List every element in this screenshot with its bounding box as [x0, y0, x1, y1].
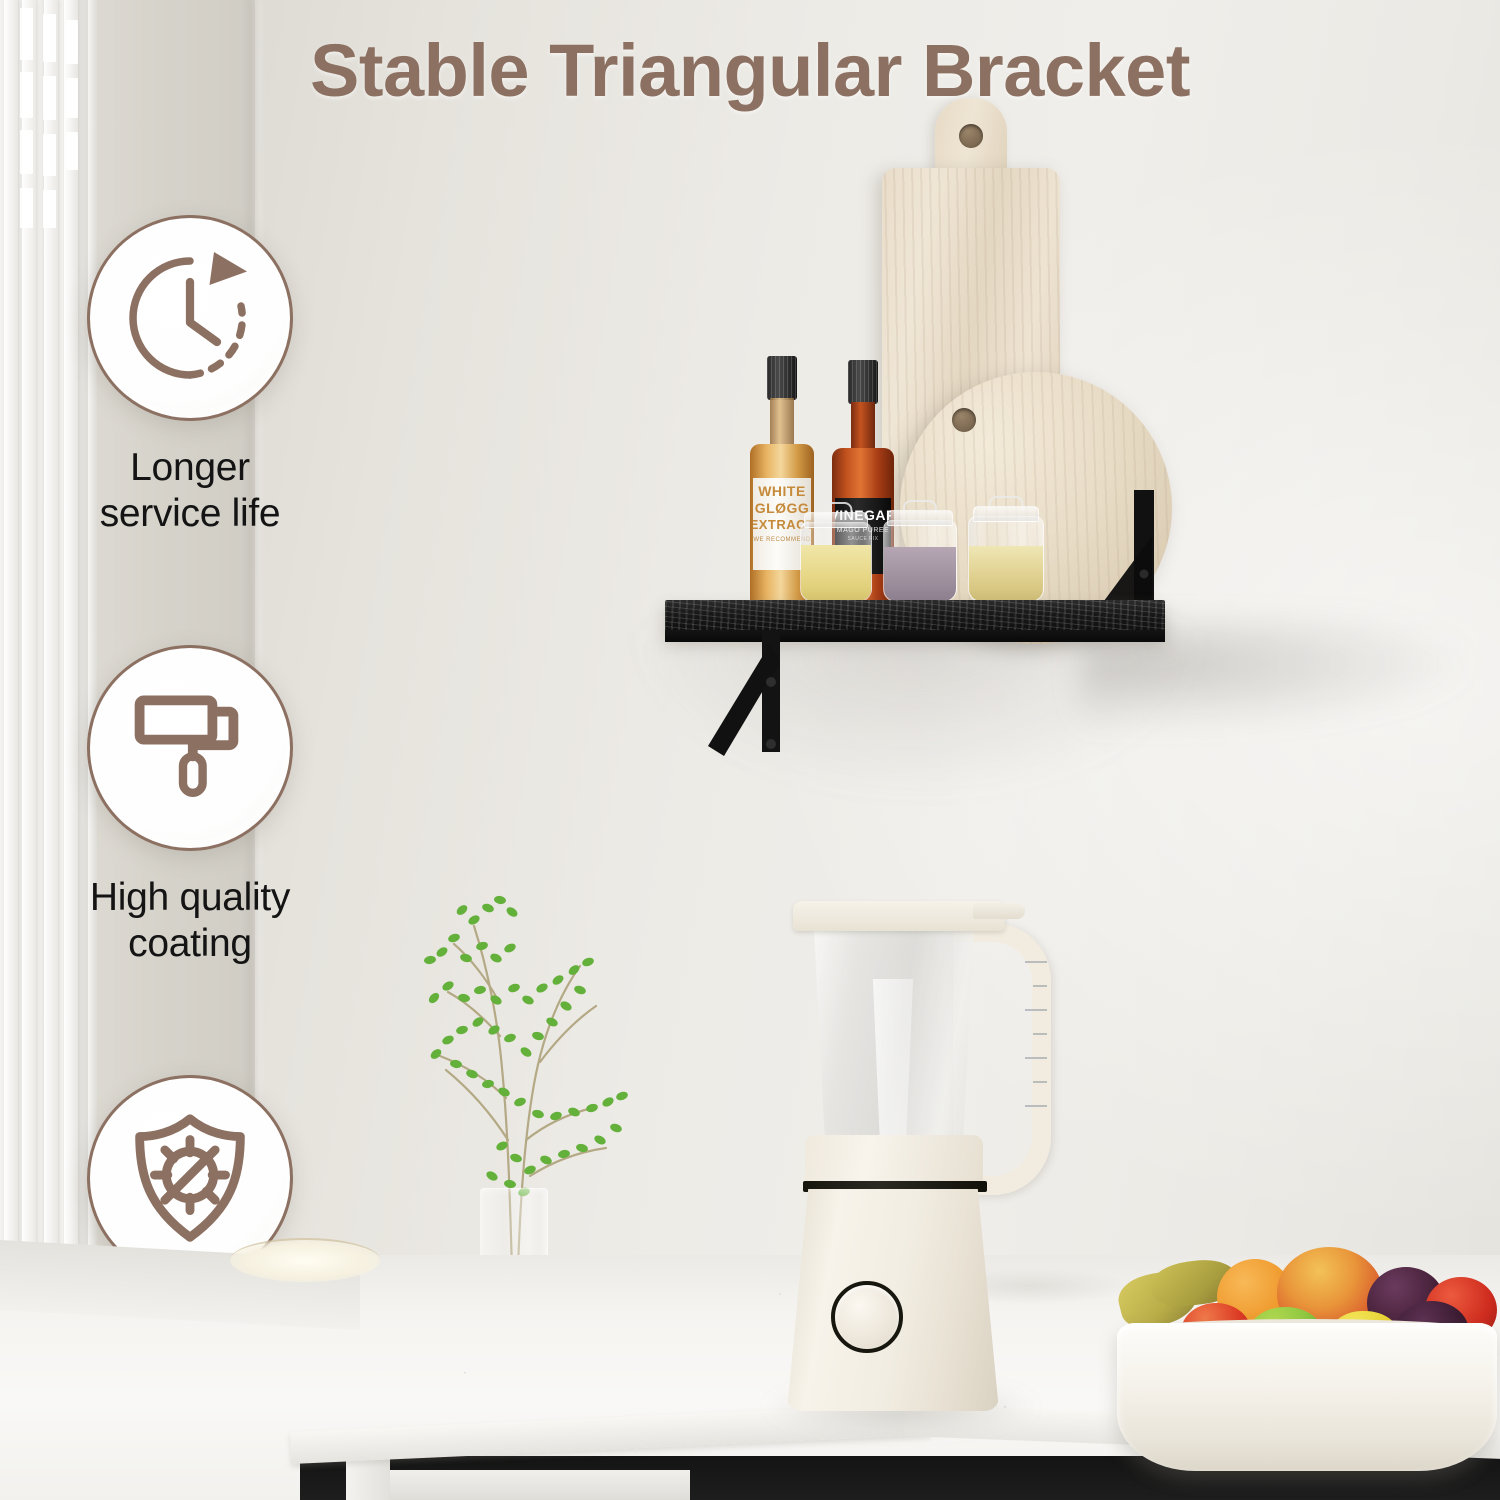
- blind-slat: [4, 0, 18, 1270]
- ceramic-fruit-bowl: [1095, 1245, 1500, 1475]
- jar-lid: [973, 506, 1040, 522]
- bottle-cap: [767, 356, 797, 400]
- board-hanging-hole: [952, 408, 976, 432]
- bottle-cap: [848, 360, 878, 404]
- blender-lid-tab: [973, 903, 1025, 919]
- feature-label-line1: High quality: [40, 875, 340, 921]
- jar-contents: [884, 547, 956, 601]
- blind-light-patch: [66, 132, 78, 170]
- jar-contents: [801, 545, 871, 601]
- jar-lid: [804, 512, 867, 528]
- feature-high-quality-coating: High quality coating: [40, 645, 340, 966]
- feature-label-line2: service life: [40, 491, 340, 537]
- jar-glass: [968, 516, 1044, 602]
- blender-jug: [803, 927, 985, 1139]
- feature-label-line2: coating: [40, 921, 340, 967]
- floating-shelf-unit: WHITE GLØGG EXTRACT WE RECOMMEND VINEGAR…: [660, 160, 1180, 780]
- blind-light-patch: [20, 188, 33, 228]
- jar-mixed-grain: [968, 502, 1044, 602]
- jar-glass: [800, 522, 872, 602]
- countertop-blender: [775, 895, 1065, 1415]
- feature-longer-service-life: Longer service life: [40, 215, 340, 536]
- label-line: WHITE: [758, 484, 806, 498]
- feature-label-line1: Longer: [40, 445, 340, 491]
- feature-label: Longer service life: [40, 445, 340, 536]
- feature-icon-badge: [87, 645, 293, 851]
- blender-blade-column: [865, 979, 921, 1159]
- board-hanging-hole: [959, 124, 983, 148]
- jar-glass: [883, 520, 957, 602]
- jar-lid: [887, 510, 952, 526]
- bowl-body: [1117, 1323, 1497, 1471]
- branch-in-glass-vase: [370, 840, 670, 1310]
- jar-purple-grain: [883, 506, 957, 602]
- feature-label: High quality coating: [40, 875, 340, 966]
- blind-light-patch: [43, 134, 56, 176]
- blind-light-patch: [20, 130, 33, 174]
- blender-jug-collar: [805, 1135, 983, 1187]
- feature-icon-badge: [87, 215, 293, 421]
- ceiling-light-reflection: [230, 1238, 380, 1282]
- page-title: Stable Triangular Bracket: [0, 28, 1500, 113]
- jar-yellow-grain: [800, 508, 872, 602]
- cabinet-panel: [390, 1470, 690, 1500]
- product-scene: Stable Triangular Bracket Longer service…: [0, 0, 1500, 1500]
- jar-contents: [969, 546, 1043, 601]
- blender-control-knob[interactable]: [831, 1281, 903, 1353]
- shelf-bracket-left: [702, 630, 814, 760]
